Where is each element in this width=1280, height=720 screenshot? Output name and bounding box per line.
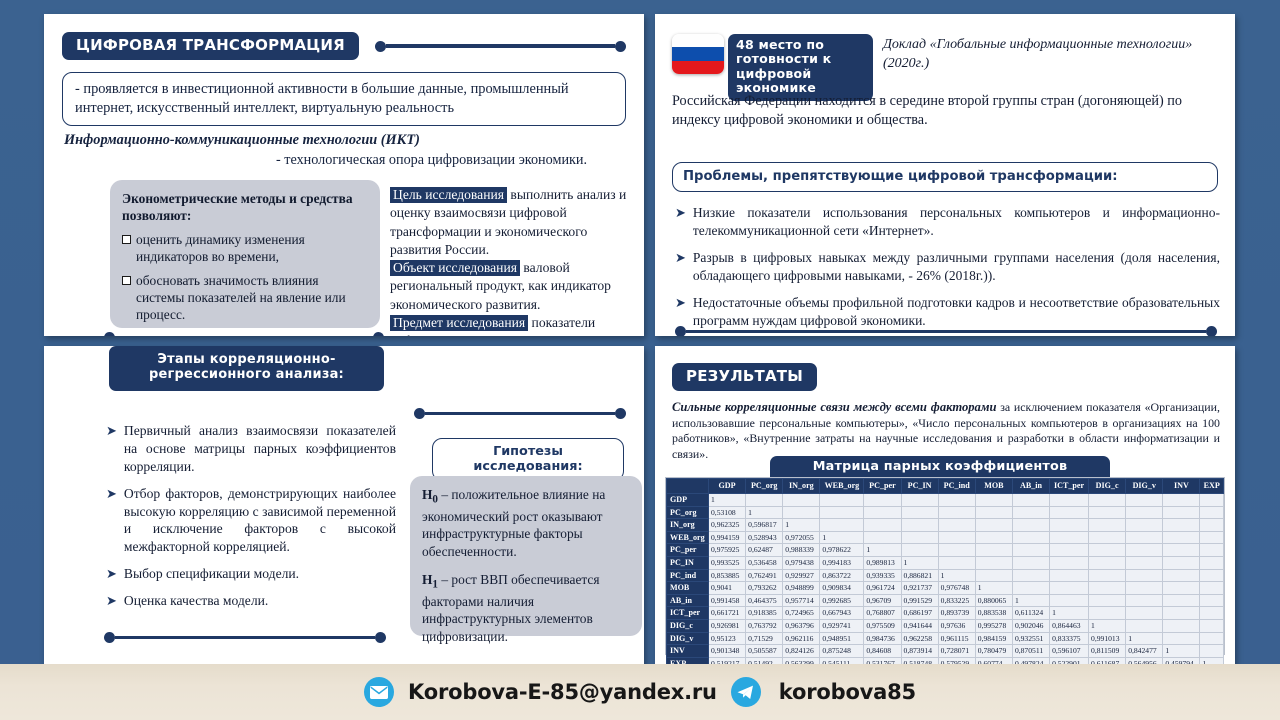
table-row: PC_org0,531081 — [667, 506, 1224, 519]
row-header: WEB_org — [667, 531, 709, 544]
research-definitions: Цель исследования выполнить анализ и оце… — [390, 186, 640, 336]
stage-text: Выбор спецификации модели. — [124, 565, 299, 583]
connector-bar — [386, 44, 615, 48]
table-cell — [1012, 582, 1049, 595]
table-cell — [1200, 607, 1224, 620]
table-cell — [1012, 569, 1049, 582]
email-text[interactable]: Korobova-E-85@yandex.ru — [408, 680, 717, 704]
problem-text: Разрыв в цифровых навыках между различны… — [693, 249, 1220, 285]
table-cell: 0,994159 — [709, 531, 746, 544]
column-header: PC_org — [746, 479, 783, 494]
table-cell: 1 — [938, 569, 975, 582]
arrow-bullet-icon: ➤ — [675, 249, 686, 285]
table-cell — [1163, 531, 1200, 544]
list-item: ➤ Низкие показатели использования персон… — [675, 204, 1220, 240]
table-cell — [1012, 531, 1049, 544]
connector-dot-left — [375, 41, 386, 52]
table-cell — [1012, 544, 1049, 557]
list-item: ➤ Недостаточные объемы профильной подгот… — [675, 294, 1220, 330]
report-reference: Доклад «Глобальные информационные технол… — [883, 36, 1213, 74]
table-cell: 0,975925 — [709, 544, 746, 557]
definition-box: - проявляется в инвестиционной активност… — [62, 72, 626, 126]
flag-stripe-white — [672, 34, 724, 47]
arrow-bullet-icon: ➤ — [106, 485, 117, 557]
hypothesis-null: H0 – положительное влияние на экономичес… — [422, 486, 630, 561]
arrow-bullet-icon: ➤ — [675, 204, 686, 240]
row-header: INV — [667, 645, 709, 658]
table-row: IN_org0,9623250,5968171 — [667, 519, 1224, 532]
table-cell — [1089, 519, 1126, 532]
table-cell — [1200, 506, 1224, 519]
table-cell: 0,921737 — [901, 582, 938, 595]
flag-stripe-blue — [672, 47, 724, 60]
econometric-methods-card: Эконометрические методы и средства позво… — [110, 180, 380, 328]
table-cell — [1050, 582, 1089, 595]
table-cell: 1 — [1050, 607, 1089, 620]
table-cell — [783, 506, 820, 519]
table-cell — [975, 544, 1012, 557]
table-cell: 0,95123 — [709, 632, 746, 645]
intro-paragraph: Российская Федерации находится в середин… — [672, 92, 1217, 131]
table-cell — [1163, 556, 1200, 569]
table-cell — [901, 544, 938, 557]
table-cell: 0,880065 — [975, 594, 1012, 607]
telegram-icon[interactable] — [731, 677, 761, 707]
table-cell — [1089, 531, 1126, 544]
table-cell: 0,596817 — [746, 519, 783, 532]
stage-text: Первичный анализ взаимосвязи показателей… — [124, 422, 396, 476]
table-cell — [1200, 519, 1224, 532]
results-title: РЕЗУЛЬТАТЫ — [672, 363, 817, 391]
table-cell — [1163, 569, 1200, 582]
table-cell — [975, 569, 1012, 582]
table-cell: 1 — [820, 531, 864, 544]
research-subject-label: Предмет исследования — [390, 315, 528, 331]
table-cell: 1 — [1089, 619, 1126, 632]
table-cell: 0,9041 — [709, 582, 746, 595]
hypotheses-card: H0 – положительное влияние на экономичес… — [410, 476, 642, 636]
table-cell — [938, 519, 975, 532]
connector-bar — [686, 330, 1206, 334]
econometric-list-item: обосновать значимость влияния системы по… — [122, 272, 368, 323]
table-cell — [1126, 607, 1163, 620]
table-cell: 0,988339 — [783, 544, 820, 557]
table-cell: 0,833375 — [1050, 632, 1089, 645]
table-cell: 1 — [1126, 632, 1163, 645]
row-header: AB_in — [667, 594, 709, 607]
table-row: DIG_v0,951230,715290,9621160,9489510,984… — [667, 632, 1224, 645]
table-cell: 0,962116 — [783, 632, 820, 645]
table-cell — [1089, 494, 1126, 507]
table-cell: 0,762491 — [746, 569, 783, 582]
table-cell: 0,667943 — [820, 607, 864, 620]
row-header: PC_org — [667, 506, 709, 519]
table-row: DIG_c0,9269810,7637920,9637960,9297410,9… — [667, 619, 1224, 632]
hypothesis-text: – рост ВВП обеспечивается факторами нали… — [422, 572, 600, 644]
table-cell: 1 — [1163, 645, 1200, 658]
panel-tl-header: ЦИФРОВАЯ ТРАНСФОРМАЦИЯ — [62, 32, 626, 60]
russia-flag-icon — [672, 34, 724, 74]
correlation-matrix-table: GDPPC_orgIN_orgWEB_orgPC_perPC_INPC_indM… — [666, 478, 1224, 668]
problems-list: ➤ Низкие показатели использования персон… — [675, 204, 1220, 336]
stage-text: Отбор факторов, демонстрирующих наиболее… — [124, 485, 396, 557]
table-cell: 0,992685 — [820, 594, 864, 607]
table-cell — [1050, 531, 1089, 544]
table-cell: 0,978622 — [820, 544, 864, 557]
arrow-bullet-icon: ➤ — [106, 565, 117, 583]
footer-connector — [675, 326, 1217, 336]
table-cell: 0,948951 — [820, 632, 864, 645]
table-cell — [1163, 632, 1200, 645]
column-header: ICT_per — [1050, 479, 1089, 494]
table-row: ICT_per0,6617210,9183850,7249650,6679430… — [667, 607, 1224, 620]
econometric-item-text: обосновать значимость влияния системы по… — [136, 272, 368, 323]
table-cell — [901, 531, 938, 544]
table-cell: 0,71529 — [746, 632, 783, 645]
column-header: EXP — [1200, 479, 1224, 494]
row-header: IN_org — [667, 519, 709, 532]
table-cell — [1050, 556, 1089, 569]
table-cell: 0,962325 — [709, 519, 746, 532]
row-header: GDP — [667, 494, 709, 507]
table-cell: 0,853885 — [709, 569, 746, 582]
table-row: PC_IN0,9935250,5364580,9794380,9941830,9… — [667, 556, 1224, 569]
column-header: PC_IN — [901, 479, 938, 494]
row-header: DIG_c — [667, 619, 709, 632]
connector-dot-right — [615, 408, 626, 419]
table-cell: 0,957714 — [783, 594, 820, 607]
correlation-matrix-wrapper: GDPPC_orgIN_orgWEB_orgPC_perPC_INPC_indM… — [665, 477, 1225, 655]
table-cell: 0,886821 — [901, 569, 938, 582]
table-cell — [1126, 582, 1163, 595]
list-item: ➤ Первичный анализ взаимосвязи показател… — [106, 422, 396, 476]
telegram-handle-text[interactable]: korobova85 — [779, 680, 916, 704]
table-cell: 0,918385 — [746, 607, 783, 620]
table-cell: 0,989813 — [864, 556, 901, 569]
table-cell — [1126, 569, 1163, 582]
table-cell — [1163, 594, 1200, 607]
page-title: ЦИФРОВАЯ ТРАНСФОРМАЦИЯ — [62, 32, 359, 60]
table-cell: 0,962258 — [901, 632, 938, 645]
table-cell — [1200, 582, 1224, 595]
table-cell — [1089, 594, 1126, 607]
problem-text: Недостаточные объемы профильной подготов… — [693, 294, 1220, 330]
table-cell — [1200, 544, 1224, 557]
table-cell: 0,909834 — [820, 582, 864, 595]
table-cell: 0,991013 — [1089, 632, 1126, 645]
table-cell — [1089, 569, 1126, 582]
hypothesis-alt: H1 – рост ВВП обеспечивается факторами н… — [422, 571, 630, 646]
column-header: DIG_v — [1126, 479, 1163, 494]
table-cell — [1050, 544, 1089, 557]
table-cell: 0,993525 — [709, 556, 746, 569]
table-cell: 1 — [1012, 594, 1049, 607]
table-cell: 1 — [901, 556, 938, 569]
side-connector — [414, 408, 626, 419]
connector-dot-left — [414, 408, 425, 419]
econometric-list-item: оценить динамику изменения индикаторов в… — [122, 231, 368, 265]
table-cell: 0,972055 — [783, 531, 820, 544]
stages-title: Этапы корреляционно-регрессионного анали… — [109, 346, 384, 391]
table-cell: 0,728071 — [938, 645, 975, 658]
table-cell — [901, 519, 938, 532]
table-cell: 0,991529 — [901, 594, 938, 607]
connector-bar — [425, 412, 615, 416]
table-cell — [1050, 569, 1089, 582]
table-cell — [1126, 544, 1163, 557]
table-cell: 0,536458 — [746, 556, 783, 569]
table-cell — [1126, 556, 1163, 569]
table-cell — [864, 519, 901, 532]
table-cell: 0,929927 — [783, 569, 820, 582]
table-cell: 0,464375 — [746, 594, 783, 607]
table-cell: 0,939335 — [864, 569, 901, 582]
table-cell: 0,994183 — [820, 556, 864, 569]
row-header: PC_per — [667, 544, 709, 557]
table-row: MOB0,90410,7932620,9488990,9098340,96172… — [667, 582, 1224, 595]
table-cell: 0,875248 — [820, 645, 864, 658]
table-cell: 0,864463 — [1050, 619, 1089, 632]
results-summary-lead: Сильные корреляционные связи между всеми… — [672, 400, 997, 414]
table-cell: 0,62487 — [746, 544, 783, 557]
table-cell — [1163, 619, 1200, 632]
envelope-icon[interactable] — [364, 677, 394, 707]
list-item: ➤ Разрыв в цифровых навыках между различ… — [675, 249, 1220, 285]
research-subject: Предмет исследования показатели цифровиз… — [390, 314, 640, 336]
table-cell — [938, 556, 975, 569]
panel-readiness-problems: 48 место по готовности к цифровой эконом… — [655, 14, 1235, 336]
table-cell — [1163, 494, 1200, 507]
table-cell — [1089, 607, 1126, 620]
table-cell — [1163, 506, 1200, 519]
table-row: PC_per0,9759250,624870,9883390,9786221 — [667, 544, 1224, 557]
table-row: PC_ind0,8538850,7624910,9299270,8637220,… — [667, 569, 1224, 582]
table-cell: 0,901348 — [709, 645, 746, 658]
connector-dot-right — [373, 332, 384, 336]
column-header: PC_per — [864, 479, 901, 494]
table-cell — [1089, 544, 1126, 557]
table-cell: 0,528943 — [746, 531, 783, 544]
table-cell — [1050, 594, 1089, 607]
table-cell — [1089, 582, 1126, 595]
table-header: GDPPC_orgIN_orgWEB_orgPC_perPC_INPC_indM… — [667, 479, 1224, 494]
table-cell: 0,84608 — [864, 645, 901, 658]
table-cell — [1089, 506, 1126, 519]
table-cell — [1163, 582, 1200, 595]
table-cell: 0,976748 — [938, 582, 975, 595]
table-cell: 0,873914 — [901, 645, 938, 658]
table-cell — [975, 494, 1012, 507]
table-cell: 0,661721 — [709, 607, 746, 620]
table-cell: 0,53108 — [709, 506, 746, 519]
connector-bar — [115, 636, 375, 640]
table-cell — [1200, 645, 1224, 658]
table-cell: 0,948899 — [783, 582, 820, 595]
table-cell — [1050, 519, 1089, 532]
arrow-bullet-icon: ➤ — [675, 294, 686, 330]
stages-list: ➤ Первичный анализ взаимосвязи показател… — [106, 422, 396, 619]
connector-dot-right — [375, 632, 386, 643]
table-cell: 0,596107 — [1050, 645, 1089, 658]
table-cell: 0,97636 — [938, 619, 975, 632]
research-object: Объект исследования валовой региональный… — [390, 259, 640, 314]
table-cell — [1163, 519, 1200, 532]
table-cell: 0,505587 — [746, 645, 783, 658]
table-cell: 0,926981 — [709, 619, 746, 632]
table-corner-cell — [667, 479, 709, 494]
row-header: ICT_per — [667, 607, 709, 620]
problems-heading: Проблемы, препятствующие цифровой трансф… — [672, 162, 1218, 192]
table-cell — [820, 506, 864, 519]
table-cell — [1050, 494, 1089, 507]
table-cell — [864, 506, 901, 519]
table-row: GDP1 — [667, 494, 1224, 507]
column-header: MOB — [975, 479, 1012, 494]
table-cell — [938, 494, 975, 507]
table-cell: 0,686197 — [901, 607, 938, 620]
table-cell: 0,833225 — [938, 594, 975, 607]
table-cell: 0,979438 — [783, 556, 820, 569]
table-cell: 0,96709 — [864, 594, 901, 607]
list-item: ➤ Отбор факторов, демонстрирующих наибол… — [106, 485, 396, 557]
table-cell — [1126, 494, 1163, 507]
checkbox-icon — [122, 235, 131, 244]
table-cell — [1163, 607, 1200, 620]
table-cell — [1200, 632, 1224, 645]
row-header: PC_ind — [667, 569, 709, 582]
table-cell: 0,984159 — [975, 632, 1012, 645]
arrow-bullet-icon: ➤ — [106, 592, 117, 610]
connector-dot-left — [675, 326, 686, 336]
row-header: DIG_v — [667, 632, 709, 645]
table-cell — [938, 506, 975, 519]
footer-contacts: Korobova-E-85@yandex.ru korobova85 — [0, 664, 1280, 720]
table-cell: 0,984736 — [864, 632, 901, 645]
footer-connector — [104, 332, 384, 336]
research-goal: Цель исследования выполнить анализ и оце… — [390, 186, 640, 259]
column-header: IN_org — [783, 479, 820, 494]
column-header: GDP — [709, 479, 746, 494]
table-cell: 1 — [783, 519, 820, 532]
table-cell — [975, 556, 1012, 569]
econometric-item-text: оценить динамику изменения индикаторов в… — [136, 231, 368, 265]
stage-text: Оценка качества модели. — [124, 592, 268, 610]
table-cell: 1 — [746, 506, 783, 519]
column-header: AB_in — [1012, 479, 1049, 494]
table-header-row: GDPPC_orgIN_orgWEB_orgPC_perPC_INPC_indM… — [667, 479, 1224, 494]
panel-results: РЕЗУЛЬТАТЫ Сильные корреляционные связи … — [655, 346, 1235, 668]
table-cell — [1200, 531, 1224, 544]
header-connector — [375, 41, 626, 52]
table-cell: 0,963796 — [783, 619, 820, 632]
ikt-term: Информационно-коммуникационные технологи… — [64, 132, 420, 149]
table-cell — [1012, 519, 1049, 532]
panel-digital-transformation: ЦИФРОВАЯ ТРАНСФОРМАЦИЯ - проявляется в и… — [44, 14, 644, 336]
connector-dot-left — [104, 632, 115, 643]
table-cell — [1126, 594, 1163, 607]
hypothesis-label: H — [422, 572, 432, 587]
hypothesis-label: H — [422, 487, 432, 502]
table-cell: 0,763792 — [746, 619, 783, 632]
hypotheses-title: Гипотезы исследования: — [432, 438, 624, 481]
table-cell — [820, 494, 864, 507]
table-cell: 0,842477 — [1126, 645, 1163, 658]
checkbox-icon — [122, 276, 131, 285]
table-cell: 0,929741 — [820, 619, 864, 632]
footer-connector — [104, 632, 386, 643]
econometric-card-title: Эконометрические методы и средства позво… — [122, 190, 368, 224]
table-cell: 0,793262 — [746, 582, 783, 595]
table-cell — [1200, 619, 1224, 632]
table-cell — [1126, 506, 1163, 519]
connector-dot-right — [615, 41, 626, 52]
flag-stripe-red — [672, 61, 724, 74]
table-cell — [1200, 494, 1224, 507]
table-row: AB_in0,9914580,4643750,9577140,9926850,9… — [667, 594, 1224, 607]
column-header: INV — [1163, 479, 1200, 494]
column-header: DIG_c — [1089, 479, 1126, 494]
problem-text: Низкие показатели использования персонал… — [693, 204, 1220, 240]
column-header: WEB_org — [820, 479, 864, 494]
table-cell — [975, 506, 1012, 519]
hypothesis-text: – положительное влияние на экономический… — [422, 487, 605, 559]
table-cell — [901, 506, 938, 519]
table-cell — [938, 531, 975, 544]
table-cell: 0,941644 — [901, 619, 938, 632]
table-cell: 0,863722 — [820, 569, 864, 582]
row-header: PC_IN — [667, 556, 709, 569]
table-cell: 0,811509 — [1089, 645, 1126, 658]
table-cell: 0,961724 — [864, 582, 901, 595]
table-cell — [1126, 619, 1163, 632]
table-cell: 0,883538 — [975, 607, 1012, 620]
table-cell: 0,611324 — [1012, 607, 1049, 620]
table-cell: 0,870511 — [1012, 645, 1049, 658]
table-cell — [938, 544, 975, 557]
connector-dot-right — [1206, 326, 1217, 336]
ikt-definition: - технологическая опора цифровизации эко… — [276, 152, 587, 169]
connector-dot-left — [104, 332, 115, 336]
table-cell — [1163, 544, 1200, 557]
list-item: ➤ Выбор спецификации модели. — [106, 565, 396, 583]
table-cell — [864, 494, 901, 507]
table-cell: 1 — [864, 544, 901, 557]
table-cell: 0,932551 — [1012, 632, 1049, 645]
table-row: INV0,9013480,5055870,8241260,8752480,846… — [667, 645, 1224, 658]
table-cell — [746, 494, 783, 507]
table-cell: 0,824126 — [783, 645, 820, 658]
research-object-label: Объект исследования — [390, 260, 520, 276]
table-cell: 0,902046 — [1012, 619, 1049, 632]
table-cell — [1012, 494, 1049, 507]
panel-stages-hypotheses: Этапы корреляционно-регрессионного анали… — [44, 346, 644, 668]
results-summary: Сильные корреляционные связи между всеми… — [672, 399, 1220, 462]
table-cell: 0,768807 — [864, 607, 901, 620]
table-cell: 0,780479 — [975, 645, 1012, 658]
rank-badge: 48 место по готовности к цифровой эконом… — [728, 34, 873, 101]
table-cell — [1200, 569, 1224, 582]
arrow-bullet-icon: ➤ — [106, 422, 117, 476]
table-cell: 0,991458 — [709, 594, 746, 607]
table-cell — [975, 531, 1012, 544]
table-cell — [1126, 531, 1163, 544]
table-cell — [1050, 506, 1089, 519]
table-cell — [783, 494, 820, 507]
list-item: ➤ Оценка качества модели. — [106, 592, 396, 610]
table-cell — [1200, 594, 1224, 607]
table-cell — [820, 519, 864, 532]
table-body: GDP1PC_org0,531081IN_org0,9623250,596817… — [667, 494, 1224, 669]
